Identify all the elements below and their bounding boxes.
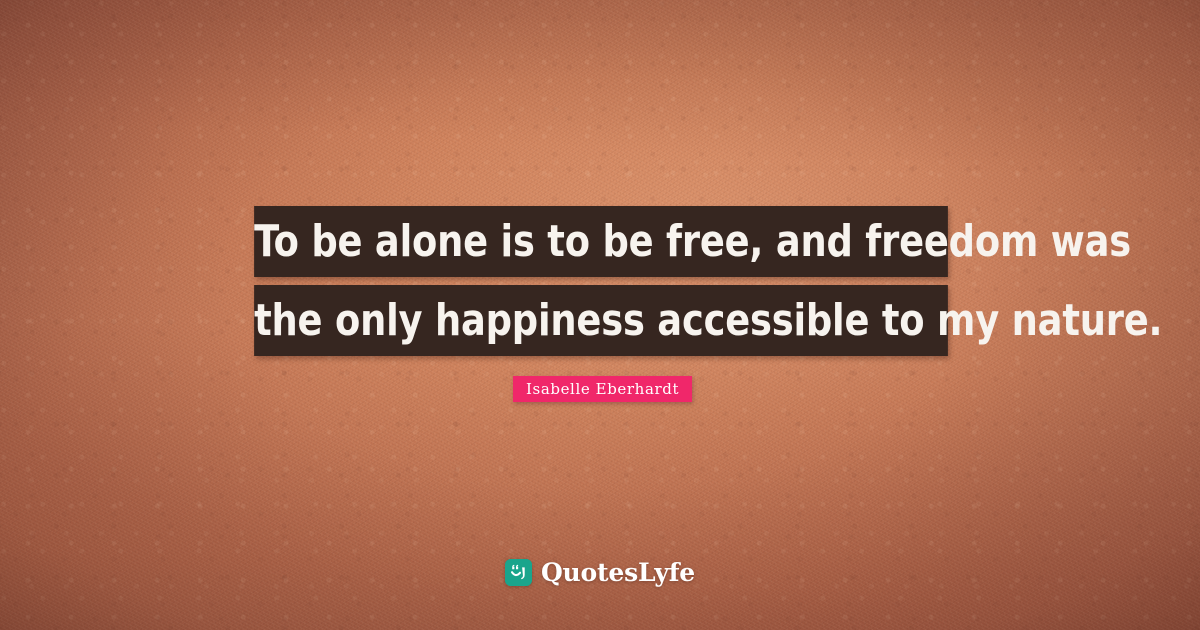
quote-line-1-text: To be alone is to be free, and freedom w… xyxy=(254,206,948,277)
quote-text-block: To be alone is to be free, and freedom w… xyxy=(228,206,974,356)
quote-line-gap xyxy=(228,277,974,285)
quote-line-2-text: the only happiness accessible to my natu… xyxy=(254,285,948,356)
quote-poster: To be alone is to be free, and freedom w… xyxy=(0,0,1200,630)
quote-line-2: the only happiness accessible to my natu… xyxy=(254,285,948,356)
brand-logo[interactable]: QuotesLyfe xyxy=(0,558,1200,587)
author-badge: Isabelle Eberhardt xyxy=(513,376,692,402)
brand-name: QuotesLyfe xyxy=(541,558,695,587)
quote-smiley-icon xyxy=(505,559,532,586)
quote-line-1: To be alone is to be free, and freedom w… xyxy=(254,206,948,277)
